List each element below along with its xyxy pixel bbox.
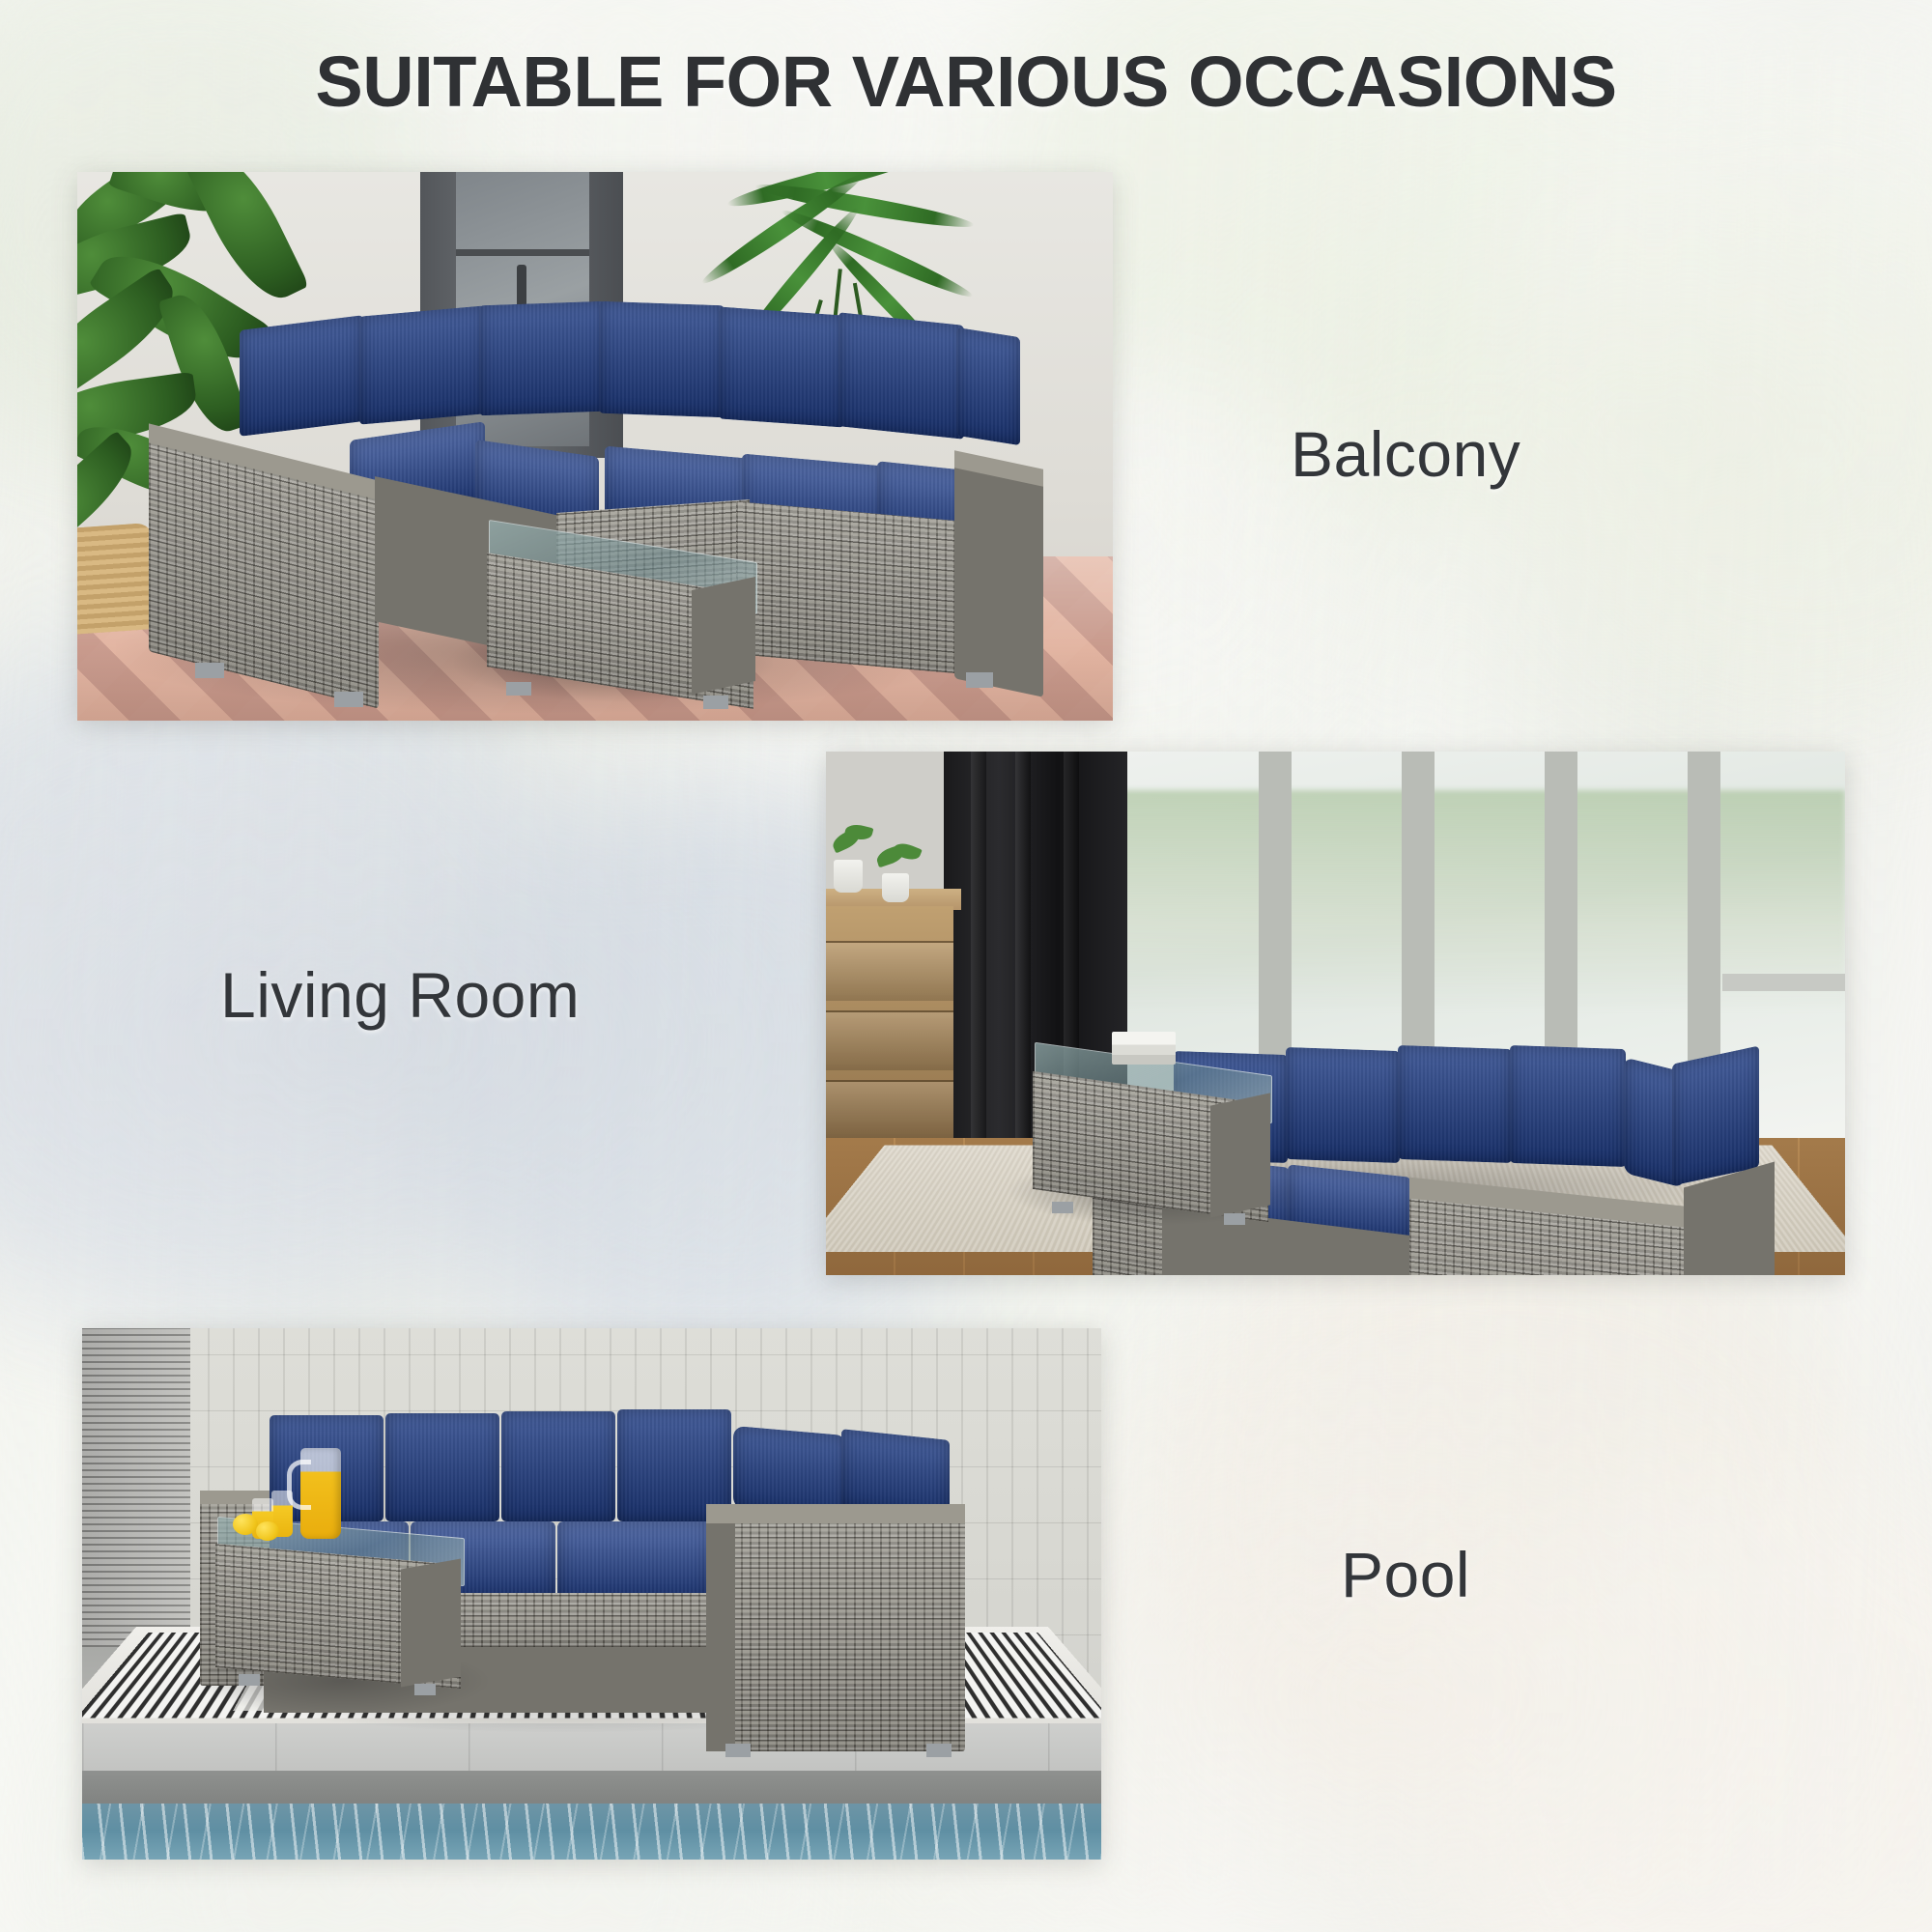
coffee-table [483,541,773,705]
coffee-table-side [1210,1093,1270,1217]
back-cushion [359,305,485,424]
dresser-drawer [826,941,953,1001]
sofa-foot [334,692,363,707]
back-cushion [501,1411,615,1521]
coffee-table-foot [239,1674,260,1686]
window-sill [1722,974,1845,991]
coffee-table-foot [1224,1213,1245,1225]
coffee-table-side [692,577,755,695]
back-cushion [1510,1045,1626,1167]
scene-label-living-room: Living Room [220,958,580,1032]
back-cushion [1286,1047,1400,1163]
back-cushion [838,312,964,440]
coffee-table-side [401,1559,461,1688]
sofa-foot [966,672,993,688]
living-room-scene [826,752,1845,1275]
scene-photo-living-room [826,752,1845,1275]
back-cushion [240,315,363,437]
scene-photo-balcony [77,172,1113,721]
coffee-table-foot [1052,1202,1073,1213]
sofa-right-module-top [706,1504,965,1523]
back-cushion [479,301,605,416]
dresser-drawer [826,1010,953,1070]
plant-pot [882,873,909,902]
coffee-table-foot [414,1684,436,1695]
lemon [256,1521,279,1541]
seat-cushion [557,1521,712,1603]
sofa-right-armrest [954,456,1043,697]
scene-photo-pool [82,1328,1101,1860]
patio-door-mullion [456,249,589,256]
lemon [233,1514,258,1535]
decor-book-stack [1112,1032,1176,1065]
back-cushion [385,1413,499,1521]
back-cushion [956,327,1020,445]
sofa-right-module [706,1510,965,1751]
sofa-right-module-shadowside [706,1523,735,1751]
page-title: SUITABLE FOR VARIOUS OCCASIONS [0,41,1932,123]
back-cushion [719,306,844,427]
pool-water [82,1804,1101,1860]
curtain-fold [971,752,986,1163]
slatted-side-wall [82,1328,190,1647]
sofa-foot [926,1744,952,1757]
scene-label-balcony: Balcony [1291,417,1520,491]
back-cushion [599,301,724,418]
dresser-drawer [826,1080,953,1140]
sofa-foot [725,1744,751,1757]
sofa-foot [195,663,224,678]
plant-pot [834,860,863,893]
coffee-table-foot [506,682,531,696]
back-cushion [1398,1045,1512,1163]
scene-label-pool: Pool [1341,1538,1470,1611]
coffee-table [212,1527,482,1701]
back-cushion [1672,1045,1759,1185]
coffee-table-foot [703,696,728,709]
pool-scene [82,1328,1101,1860]
patio-door-handle [517,265,526,309]
promo-image-canvas: SUITABLE FOR VARIOUS OCCASIONS [0,0,1932,1932]
balcony-scene [77,172,1113,721]
coffee-table [1029,1059,1290,1233]
